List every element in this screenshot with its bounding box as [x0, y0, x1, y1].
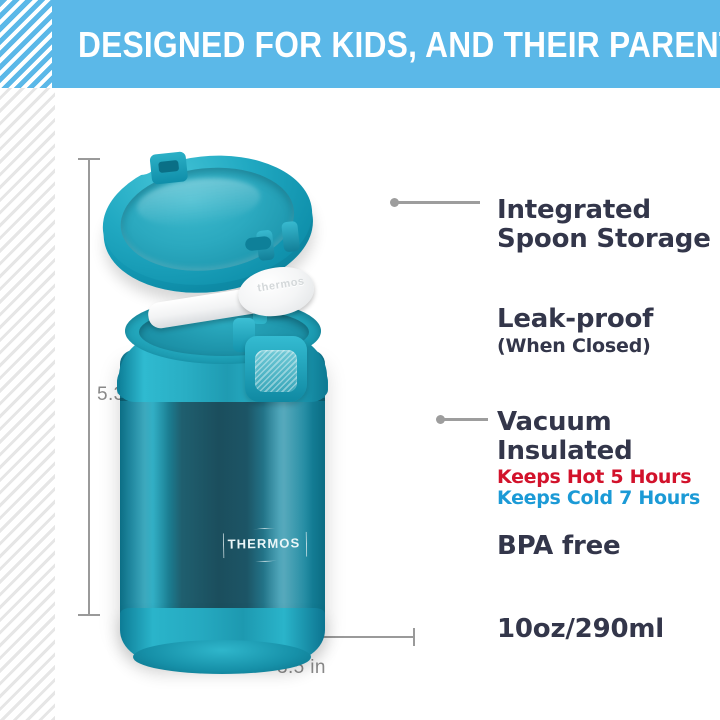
- lid-clasp-grip-pad: [255, 350, 297, 392]
- product-illustration: thermos THERMOS: [95, 140, 425, 640]
- feature-bpa-free: BPA free: [497, 532, 712, 561]
- feature-spoon-storage-line1: Integrated: [497, 196, 712, 225]
- feature-capacity: 10oz/290ml: [497, 615, 712, 644]
- feature-vacuum-insulated-line1: Vacuum Insulated: [497, 408, 719, 466]
- feature-vacuum-insulated: Vacuum Insulated Keeps Hot 5 Hours Keeps…: [497, 408, 719, 510]
- leader-line-vacuum-insulated: [444, 418, 488, 421]
- thermos-logo: THERMOS: [223, 527, 306, 560]
- diagonal-stripes-body: [0, 88, 55, 720]
- feature-keeps-cold: Keeps Cold 7 Hours: [497, 488, 719, 509]
- diagonal-stripes-header: [0, 0, 52, 88]
- feature-leak-proof-line2: (When Closed): [497, 336, 712, 357]
- lid-hinge-right: [281, 221, 300, 253]
- feature-capacity-line1: 10oz/290ml: [497, 615, 712, 644]
- height-dimension-line: [88, 158, 90, 616]
- feature-leak-proof: Leak-proof (When Closed): [497, 305, 712, 357]
- thermos-logo-text: THERMOS: [223, 535, 305, 551]
- feature-spoon-storage: Integrated Spoon Storage: [497, 196, 712, 254]
- feature-spoon-storage-line2: Spoon Storage: [497, 225, 712, 254]
- jar-base-ellipse: [133, 640, 311, 674]
- lid-latch-tab-hole: [158, 160, 179, 173]
- infographic-canvas: DESIGNED FOR KIDS, AND THEIR PARENTS 5.3…: [0, 0, 720, 720]
- feature-keeps-hot: Keeps Hot 5 Hours: [497, 467, 719, 488]
- feature-bpa-free-line1: BPA free: [497, 532, 712, 561]
- feature-leak-proof-line1: Leak-proof: [497, 305, 712, 334]
- page-title: DESIGNED FOR KIDS, AND THEIR PARENTS: [78, 22, 606, 68]
